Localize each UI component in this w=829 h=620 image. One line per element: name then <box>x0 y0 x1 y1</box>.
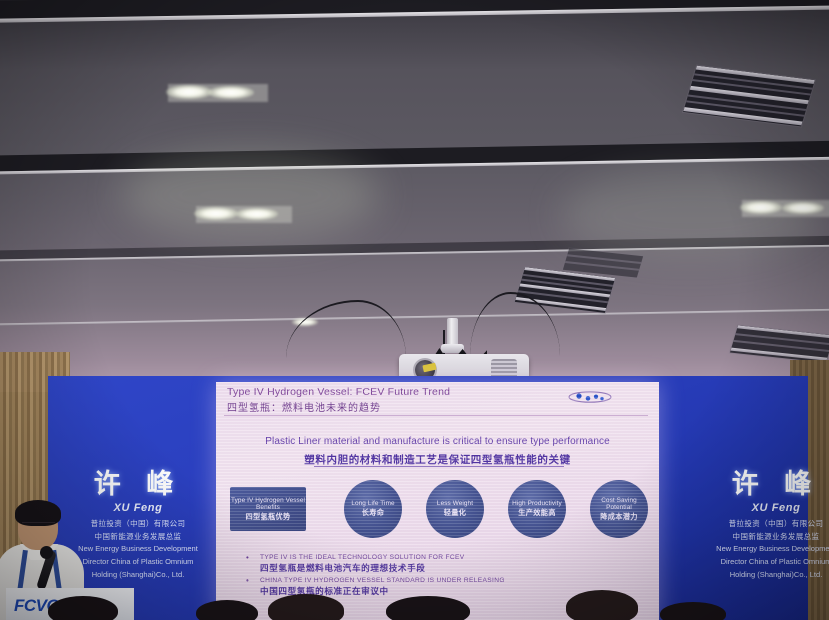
benefit-bubble-label-cn: 轻量化 <box>444 509 466 517</box>
presenter-glasses <box>22 522 55 530</box>
slide-headline-underline <box>314 466 564 467</box>
benefit-bubble-label-en: High Productivity <box>512 500 562 508</box>
slide-headline-en: Plastic Liner material and manufacture i… <box>216 436 659 447</box>
speaker-org-en-1: New Energy Business Development <box>700 543 829 556</box>
speaker-org-block: 普拉投资（中国）有限公司 中国新能源业务发展总监 New Energy Busi… <box>62 518 214 582</box>
microphone-head <box>40 546 53 559</box>
speaker-org-cn-1: 普拉投资（中国）有限公司 <box>700 518 829 531</box>
slide-bullet-0: TYPE IV IS THE IDEAL TECHNOLOGY SOLUTION… <box>238 554 638 574</box>
speaker-org-en-1: New Energy Business Development <box>62 543 214 556</box>
ceiling-spotlight-2a <box>194 207 238 220</box>
speaker-org-en-2: Director China of Plastic Omnium <box>62 556 214 569</box>
speaker-org-cn-1: 普拉投资（中国）有限公司 <box>62 518 214 531</box>
benefit-bubble-label-en: Type IV Hydrogen Vessel Benefits <box>230 497 306 512</box>
speaker-org-en-3: Holding (Shanghai)Co., Ltd. <box>700 569 829 582</box>
benefit-bubble-label-en: Long Life Time <box>351 500 394 508</box>
audience-head-3 <box>268 594 344 620</box>
projected-slide: Type IV Hydrogen Vessel: FCEV Future Tre… <box>216 382 659 620</box>
benefit-bubble-label-cn: 长寿命 <box>362 509 384 517</box>
slide-bullet-en: TYPE IV IS THE IDEAL TECHNOLOGY SOLUTION… <box>238 554 638 561</box>
audience-head-2 <box>196 600 258 620</box>
speaker-org-cn-2: 中国新能源业务发展总监 <box>62 531 214 544</box>
audience-head-4 <box>386 596 470 620</box>
ceiling-spotlight-1a <box>166 85 212 99</box>
benefit-bubble-label-cn: 生产效能高 <box>518 509 555 517</box>
slide-benefit-bubbles: Type IV Hydrogen Vessel Benefits 四型氢瓶优势 … <box>230 480 646 542</box>
audience-head-1 <box>48 596 118 620</box>
speaker-org-en-2: Director China of Plastic Omnium <box>700 556 829 569</box>
ceiling-spotlight-2b <box>236 208 278 220</box>
ceiling-spotlight-3a <box>740 201 782 214</box>
slide-headline-cn: 塑料内胆的材料和制造工艺是保证四型氢瓶性能的关键 <box>216 452 659 467</box>
ceiling-spotlight-3b <box>782 202 824 214</box>
speaker-name-cn: 许 峰 <box>700 470 829 500</box>
benefit-bubble-label-cn: 四型氢瓶优势 <box>246 513 291 521</box>
speaker-name-panel-right: 许 峰 XU Feng 普拉投资（中国）有限公司 中国新能源业务发展总监 New… <box>700 470 829 582</box>
slide-bullet-en: CHINA TYPE IV HYDROGEN VESSEL STANDARD I… <box>238 577 638 584</box>
slide-bullet-cn: 四型氢瓶是燃料电池汽车的理想技术手段 <box>238 562 638 574</box>
speaker-name-cn: 许 峰 <box>62 470 214 500</box>
slide-title-en: Type IV Hydrogen Vessel: FCEV Future Tre… <box>227 386 450 398</box>
audience-head-5 <box>566 590 638 620</box>
audience-head-6 <box>660 602 726 620</box>
benefit-bubble-3: High Productivity 生产效能高 <box>508 480 566 538</box>
benefit-bubble-1: Long Life Time 长寿命 <box>344 480 402 538</box>
company-logo-icon <box>567 390 613 404</box>
benefit-bubble-4: Cost Saving Potential 降成本潜力 <box>590 480 648 538</box>
benefit-bubble-2: Less Weight 轻量化 <box>426 480 484 538</box>
speaker-org-en-3: Holding (Shanghai)Co., Ltd. <box>62 569 214 582</box>
slide-title-cn: 四型氢瓶：燃料电池未来的趋势 <box>227 399 381 414</box>
speaker-org-block: 普拉投资（中国）有限公司 中国新能源业务发展总监 New Energy Busi… <box>700 518 829 582</box>
speaker-name-en: XU Feng <box>700 502 829 514</box>
speaker-name-panel-left: 许 峰 XU Feng 普拉投资（中国）有限公司 中国新能源业务发展总监 New… <box>62 470 214 582</box>
slide-title-divider <box>224 415 648 416</box>
ceiling-spotlight-1b <box>208 86 254 99</box>
speaker-org-cn-2: 中国新能源业务发展总监 <box>700 531 829 544</box>
benefit-bubble-label-en: Cost Saving Potential <box>590 497 648 512</box>
speaker-name-en: XU Feng <box>62 502 214 514</box>
conference-hall-photo: 许 峰 XU Feng 普拉投资（中国）有限公司 中国新能源业务发展总监 New… <box>0 0 829 620</box>
benefit-bubble-0: Type IV Hydrogen Vessel Benefits 四型氢瓶优势 <box>230 487 306 531</box>
benefit-bubble-label-cn: 降成本潜力 <box>600 513 637 521</box>
benefit-bubble-label-en: Less Weight <box>437 500 473 508</box>
